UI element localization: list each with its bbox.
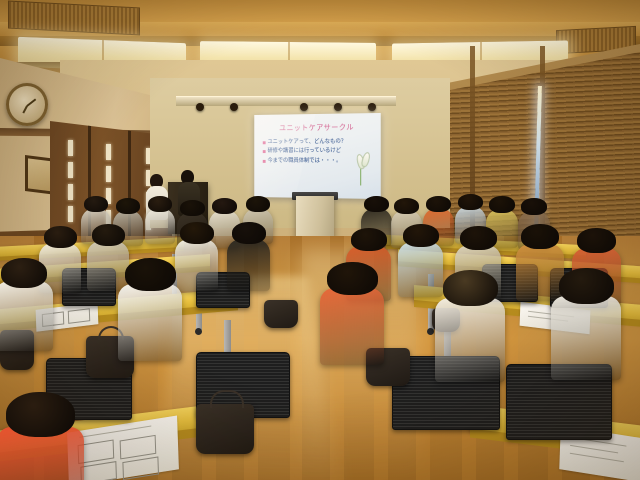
audience-torso — [118, 284, 182, 361]
audience-head — [180, 200, 205, 216]
audience-torso — [516, 244, 564, 301]
audience-head — [458, 194, 483, 210]
audience-torso — [551, 296, 621, 380]
bag — [264, 300, 298, 328]
audience-torso — [227, 239, 270, 291]
audience-head — [116, 198, 140, 214]
audience-head — [44, 226, 77, 248]
audience-head — [232, 222, 266, 244]
audience-head — [577, 228, 616, 253]
audience-head — [92, 224, 125, 246]
audience-torso — [175, 239, 218, 291]
audience-head — [443, 270, 498, 306]
audience-head — [394, 198, 419, 214]
audience-torso — [398, 242, 443, 297]
audience-head — [6, 392, 75, 437]
audience-torso — [320, 288, 384, 365]
audience-head — [1, 258, 47, 288]
audience-head — [351, 228, 387, 251]
flower-decoration-icon — [351, 153, 371, 194]
audience-torso — [435, 298, 505, 382]
audience-head — [148, 196, 172, 212]
audience-head — [559, 268, 614, 304]
audience-head — [426, 196, 451, 212]
audience-head — [327, 262, 378, 295]
bag — [196, 404, 254, 454]
projection-screen: ユニットケアサークル ユニットケアって、どんなもの？ 研修や講習には行っているけ… — [254, 113, 380, 199]
audience-torso — [87, 241, 129, 291]
audience-head — [489, 196, 515, 213]
audience-head — [84, 196, 108, 212]
audience-head — [246, 196, 270, 212]
audience-torso — [145, 208, 175, 244]
audience-torso — [0, 281, 53, 351]
audience-head — [403, 224, 439, 247]
audience-head — [212, 198, 237, 214]
audience-head — [125, 258, 176, 291]
audience-head — [180, 222, 214, 244]
audience-head — [521, 224, 559, 249]
wall-clock-icon — [6, 83, 48, 126]
audience-head — [521, 198, 547, 215]
seminar-room-photo: ユニットケアサークル ユニットケアって、どんなもの？ 研修や講習には行っているけ… — [0, 0, 640, 480]
audience-head — [364, 196, 389, 212]
curtain-rail — [176, 96, 396, 106]
audience-head — [460, 226, 497, 250]
